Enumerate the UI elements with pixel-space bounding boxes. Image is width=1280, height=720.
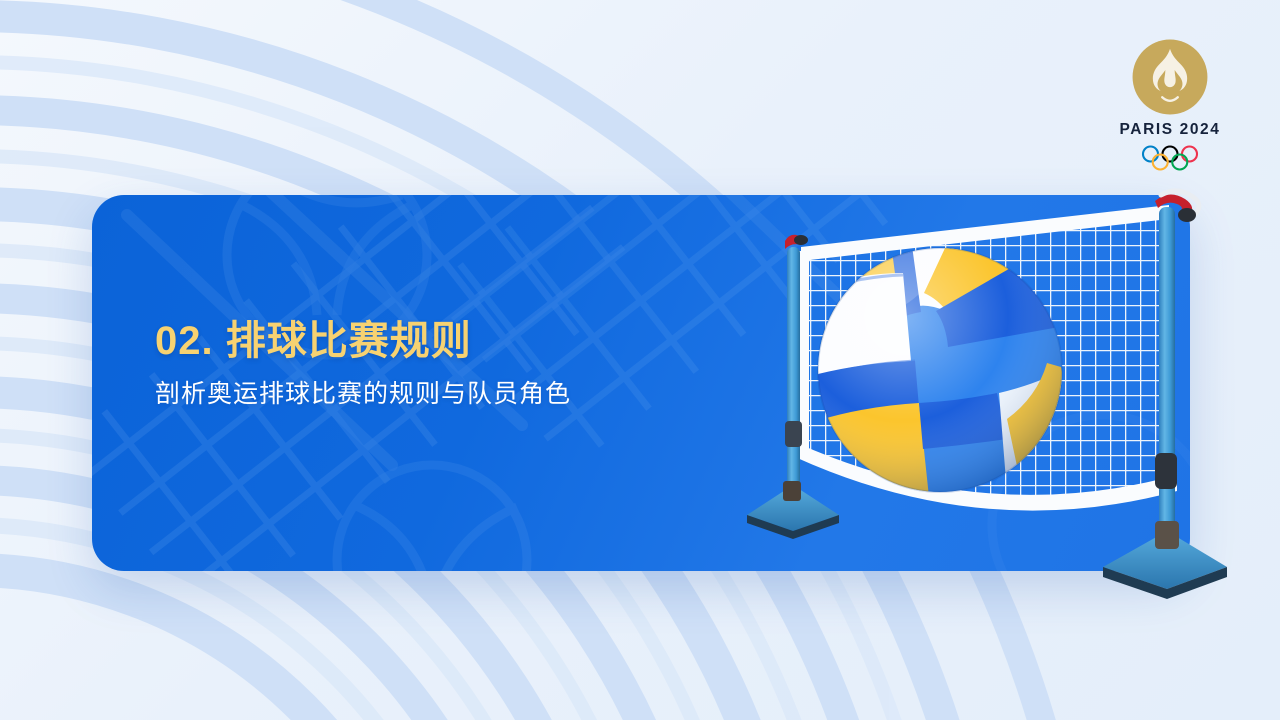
paris-2024-wordmark: PARIS 2024 — [1119, 122, 1220, 138]
page-subtitle: 剖析奥运排球比赛的规则与队员角色 — [155, 374, 571, 410]
paris-2024-logo: PARIS 2024 — [1118, 38, 1222, 171]
page-title: 02. 排球比赛规则 — [155, 318, 571, 364]
text-block: 02. 排球比赛规则 剖析奥运排球比赛的规则与队员角色 — [155, 318, 571, 410]
paris-2024-flame-emblem — [1131, 38, 1209, 116]
olympic-rings — [1139, 145, 1201, 171]
slide-root: PARIS 2024 — [0, 0, 1280, 720]
